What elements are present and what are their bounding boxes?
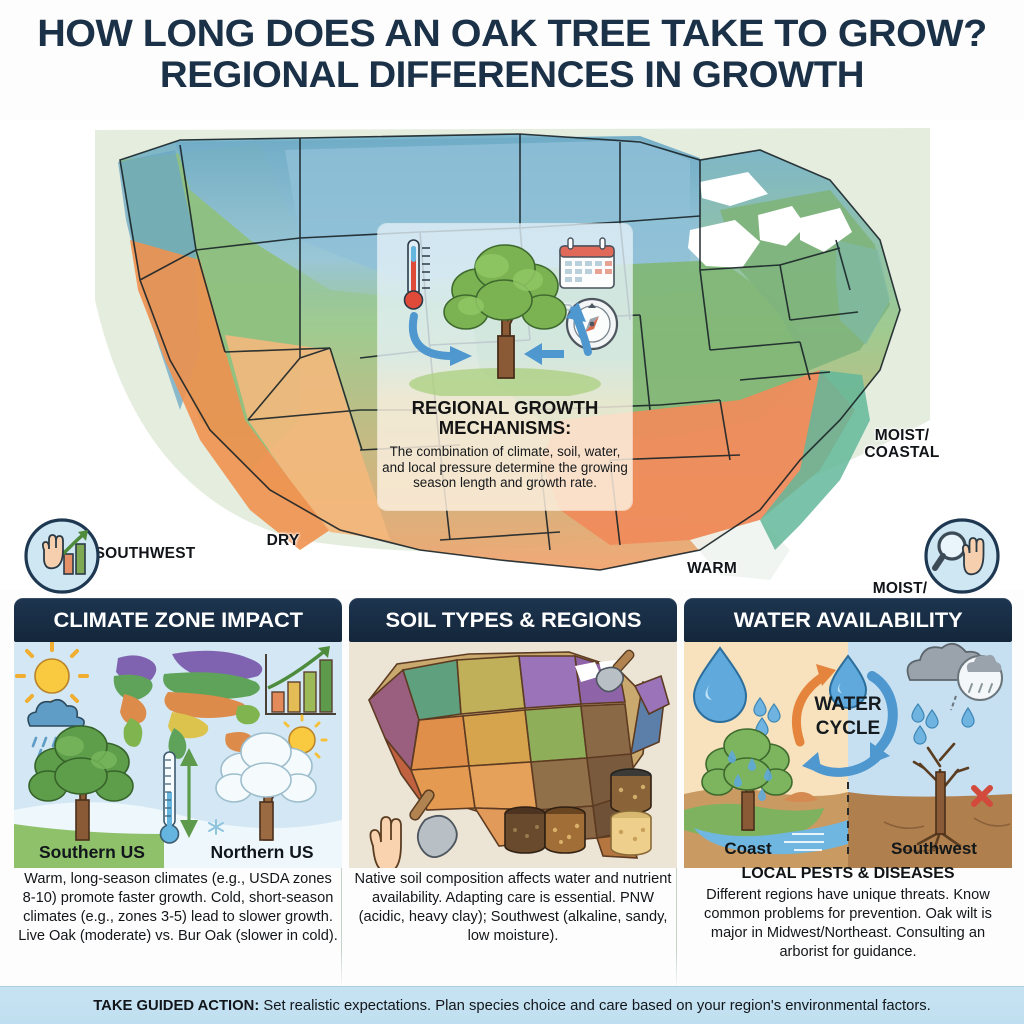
arrow-icon [450,346,472,366]
panel-header-label: CLIMATE ZONE IMPACT [53,608,302,633]
panel-body-soil-types-regions: Native soil composition affects water an… [351,870,675,946]
panel-climate-zone-impact: CLIMATE ZONE IMPACT [14,598,342,992]
page-title: HOW LONG DOES AN OAK TREE TAKE TO GROW? … [0,14,1024,95]
arrow-icon [524,343,564,365]
panel-soil-types-regions: SOIL TYPES & REGIONS [349,598,677,992]
panel-water-availability: WATER AVAILABILITY [684,598,1012,992]
map-label-warm: WARM [672,560,752,577]
panel-body-climate-zone-impact: Warm, long-season climates (e.g., USDA z… [16,870,340,946]
soil-sample-jar-icon [545,807,585,853]
soil-sample-jar-icon [611,811,651,855]
soil-sample-jar-icon [505,807,545,853]
panel-header-label: WATER AVAILABILITY [734,608,963,633]
title-line-1: HOW LONG DOES AN OAK TREE TAKE TO GROW? [0,14,1024,55]
regional-growth-mechanisms-callout: REGIONAL GROWTH MECHANISMS: The combinat… [378,224,632,510]
take-guided-action-banner: TAKE GUIDED ACTION: Set realistic expect… [0,986,1024,1024]
panel-header-water-availability: WATER AVAILABILITY [684,598,1012,642]
soil-types-illustration [349,642,677,868]
map-label-moist-coastal-northeast: MOIST/ COASTAL [852,427,952,462]
thermometer-icon [405,240,431,309]
panel-body-text: Different regions have unique threats. K… [704,887,992,960]
callout-title: REGIONAL GROWTH MECHANISMS: [378,398,632,438]
water-cycle-label-line1: WATER [814,694,881,715]
infographic-root: HOW LONG DOES AN OAK TREE TAKE TO GROW? … [0,0,1024,1024]
title-line-2: REGIONAL DIFFERENCES IN GROWTH [0,55,1024,95]
magnifier-hand-icon [922,516,1002,596]
footer-label: TAKE GUIDED ACTION: [93,998,259,1014]
callout-illustration [378,224,632,396]
callout-body: The combination of climate, soil, water,… [382,444,628,491]
footer-body: Set realistic expectations. Plan species… [259,998,931,1014]
panel3-label-left: Coast [724,839,772,858]
thermometer-icon [161,752,179,843]
climate-zone-illustration: Southern US Northern US [14,642,342,868]
panel1-label-right: Northern US [210,842,313,862]
water-cycle-label-line2: CYCLE [816,718,880,739]
soil-sample-jar-icon [611,769,651,813]
hand-growth-chart-icon [22,516,102,596]
panel-header-climate-zone-impact: CLIMATE ZONE IMPACT [14,598,342,642]
calendar-icon [560,238,614,288]
panel-subheading-local-pests: LOCAL PESTS & DISEASES [686,864,1010,885]
water-availability-illustration: WATER CYCLE [684,642,1012,868]
panel-body-water-availability: LOCAL PESTS & DISEASES Different regions… [686,864,1010,962]
map-label-dry: DRY [248,532,318,549]
footer-text: TAKE GUIDED ACTION: Set realistic expect… [93,998,931,1014]
panel1-label-left: Southern US [39,842,145,862]
panel3-label-right: Southwest [891,839,977,858]
panel-header-label: SOIL TYPES & REGIONS [385,608,641,633]
panel-header-soil-types-regions: SOIL TYPES & REGIONS [349,598,677,642]
